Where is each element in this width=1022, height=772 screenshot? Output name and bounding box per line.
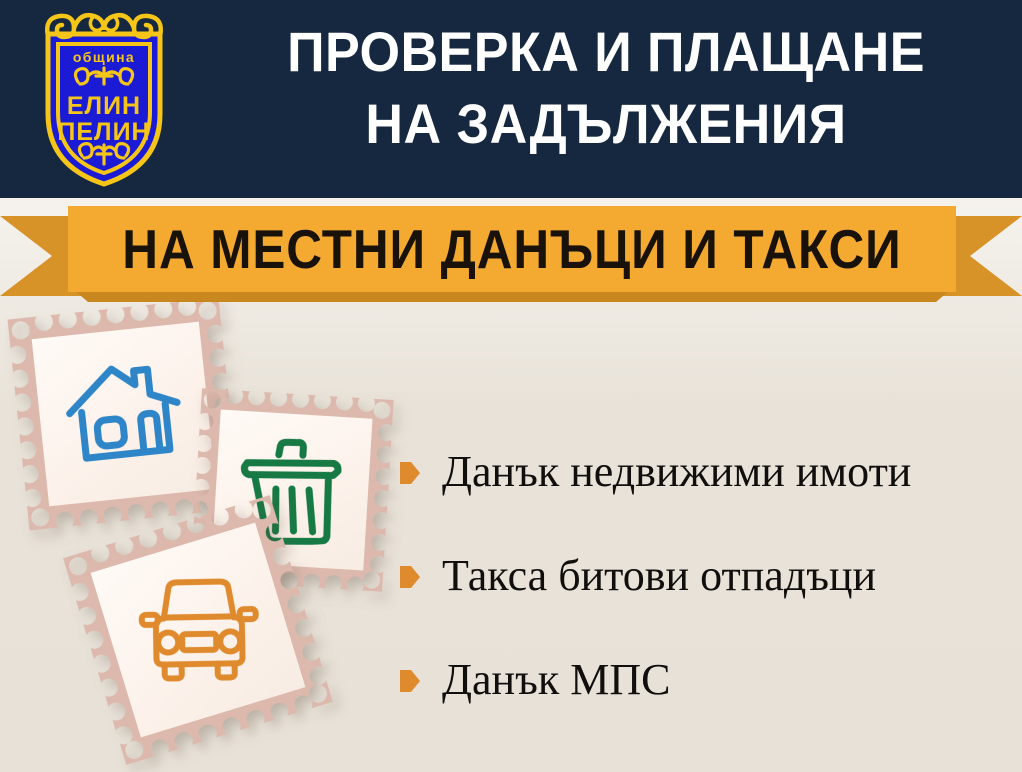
- ribbon-banner: НА МЕСТНИ ДАНЪЦИ И ТАКСИ: [0, 198, 1022, 308]
- list-item[interactable]: Такса битови отпадъци: [400, 524, 1000, 628]
- svg-text:община: община: [73, 49, 135, 65]
- house-icon: [58, 352, 189, 476]
- ribbon-label: НА МЕСТНИ ДАНЪЦИ И ТАКСИ: [122, 221, 901, 277]
- car-icon: [133, 573, 263, 687]
- list-item-label: Данък МПС: [442, 656, 670, 704]
- stamp-collage: [0, 300, 420, 772]
- tax-type-list: Данък недвижими имоти Такса битови отпад…: [400, 420, 1000, 732]
- list-item[interactable]: Данък недвижими имоти: [400, 420, 1000, 524]
- list-item-label: Данък недвижими имоти: [442, 448, 911, 496]
- municipality-logo: община ЕЛИН ПЕЛИН: [18, 6, 190, 192]
- page-title: ПРОВЕРКА И ПЛАЩАНЕ НА ЗАДЪЛЖЕНИЯ: [225, 16, 988, 160]
- list-item[interactable]: Данък МПС: [400, 628, 1000, 732]
- ribbon-face: НА МЕСТНИ ДАНЪЦИ И ТАКСИ: [68, 206, 956, 292]
- list-item-label: Такса битови отпадъци: [442, 552, 876, 600]
- svg-text:ПЕЛИН: ПЕЛИН: [57, 118, 150, 146]
- arrow-bullet-icon: [400, 565, 420, 589]
- svg-text:ЕЛИН: ЕЛИН: [67, 92, 141, 120]
- poster-canvas: община ЕЛИН ПЕЛИН: [0, 0, 1022, 772]
- arrow-bullet-icon: [400, 461, 420, 485]
- page-title-line-1: ПРОВЕРКА И ПЛАЩАНЕ: [225, 16, 988, 88]
- page-title-line-2: НА ЗАДЪЛЖЕНИЯ: [225, 88, 988, 160]
- header-bar: община ЕЛИН ПЕЛИН: [0, 0, 1022, 198]
- coat-of-arms-icon: община ЕЛИН ПЕЛИН: [18, 6, 190, 192]
- arrow-bullet-icon: [400, 669, 420, 693]
